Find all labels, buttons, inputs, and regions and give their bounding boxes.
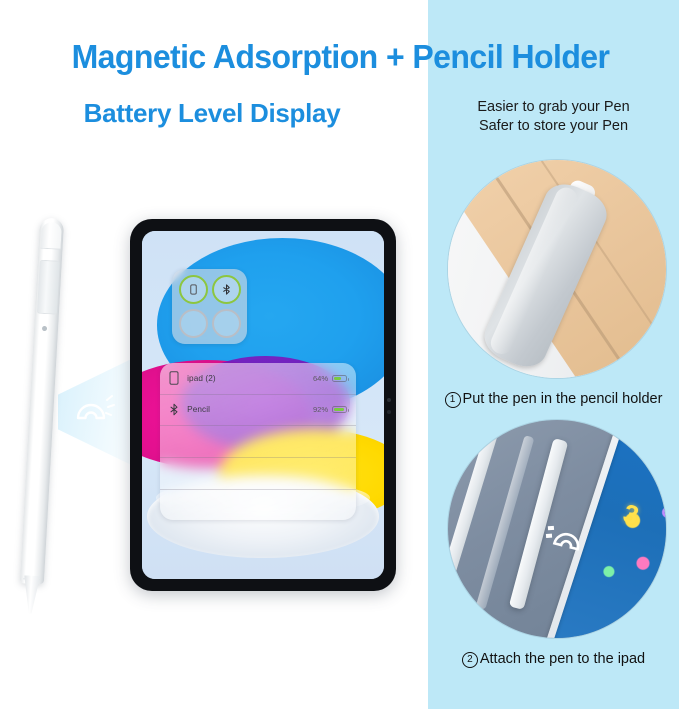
cellular-icon bbox=[188, 284, 199, 295]
bluetooth-icon bbox=[168, 403, 180, 417]
benefit-line-1: Easier to grab your Pen bbox=[428, 98, 679, 117]
tablet-screen: ipad (2) 64% Pencil 92% bbox=[142, 231, 384, 579]
stylus-cap bbox=[41, 222, 62, 250]
hotspot-toggle-button[interactable] bbox=[212, 309, 241, 338]
battery-level-widget: ipad (2) 64% Pencil 92% bbox=[160, 363, 356, 520]
benefit-line-2: Safer to store your Pen bbox=[428, 117, 679, 136]
step-2-caption: 2Attach the pen to the ipad bbox=[428, 651, 679, 668]
battery-row-empty bbox=[160, 426, 356, 458]
battery-device-name: ipad (2) bbox=[187, 374, 313, 383]
headline-primary: Magnetic Adsorption + Pencil Holder bbox=[18, 38, 663, 76]
step-1-number: 1 bbox=[445, 392, 461, 408]
front-camera bbox=[387, 398, 391, 402]
white-stylus-pen bbox=[20, 218, 64, 585]
stylus-touch-band bbox=[37, 260, 60, 315]
battery-fill bbox=[334, 408, 344, 412]
tablet-device: ipad (2) 64% Pencil 92% bbox=[130, 219, 396, 591]
bluetooth-icon bbox=[221, 284, 232, 295]
battery-row-ipad: ipad (2) 64% bbox=[160, 363, 356, 394]
bluetooth-toggle-button[interactable] bbox=[212, 275, 241, 304]
connectivity-module[interactable] bbox=[172, 269, 247, 344]
cellular-toggle-button[interactable] bbox=[179, 275, 208, 304]
battery-row-empty bbox=[160, 458, 356, 490]
step-1-caption: 1Put the pen in the pencil holder bbox=[428, 391, 679, 408]
ipad-icon bbox=[168, 371, 180, 385]
step-1-text: Put the pen in the pencil holder bbox=[463, 391, 663, 407]
benefit-text-block: Easier to grab your Pen Safer to store y… bbox=[428, 98, 679, 136]
battery-percent: 64% bbox=[313, 374, 328, 383]
battery-indicator bbox=[332, 406, 347, 414]
product-feature-image: Magnetic Adsorption + Pencil Holder Batt… bbox=[0, 0, 679, 709]
battery-device-name: Pencil bbox=[187, 405, 313, 414]
pen-attached-to-ipad-photo: 3 bbox=[448, 420, 666, 638]
battery-row-empty bbox=[160, 490, 356, 519]
step-2-number: 2 bbox=[462, 652, 478, 668]
battery-indicator bbox=[332, 375, 347, 383]
battery-row-pencil: Pencil 92% bbox=[160, 395, 356, 426]
step-2-text: Attach the pen to the ipad bbox=[480, 651, 645, 667]
magnet-icon bbox=[70, 388, 116, 428]
airdrop-toggle-button[interactable] bbox=[179, 309, 208, 338]
battery-fill bbox=[334, 377, 341, 381]
headline-secondary: Battery Level Display bbox=[0, 98, 424, 129]
battery-percent: 92% bbox=[313, 405, 328, 414]
connectivity-button-grid bbox=[178, 275, 241, 338]
pen-in-holder-photo bbox=[448, 160, 666, 378]
